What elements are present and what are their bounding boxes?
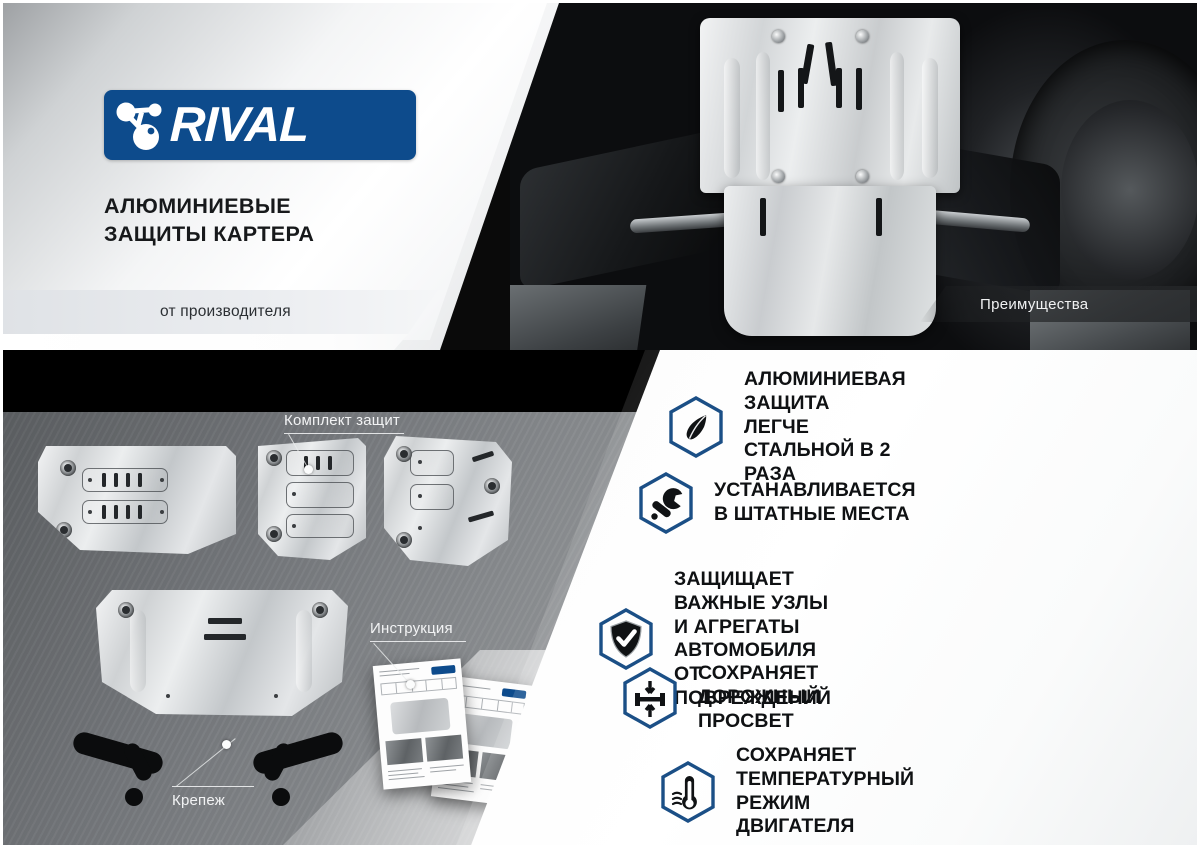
rival-logo: RIVAL xyxy=(104,90,416,160)
hero-subtitle-band: от производителя xyxy=(0,290,470,334)
header-section: Преимущества RIVAL АЛЮМИНИЕВЫЕ xyxy=(0,0,1200,350)
advantages-tab[interactable]: Преимущества xyxy=(920,286,1200,322)
ground-clearance-icon xyxy=(622,667,678,729)
skid-plate-lower xyxy=(724,186,936,336)
page-title-line1: АЛЮМИНИЕВЫЕ xyxy=(104,192,524,220)
poster-root: Преимущества RIVAL АЛЮМИНИЕВЫЕ xyxy=(0,0,1200,848)
feature-text-weight: АЛЮМИНИЕВАЯ ЗАЩИТАЛЕГЧЕ СТАЛЬНОЙ В 2 РАЗ… xyxy=(744,368,906,487)
feature-item-clearance[interactable]: СОХРАНЯЕТ ДОРОЖНЫЙ ПРОСВЕТ xyxy=(622,662,820,733)
page-title: АЛЮМИНИЕВЫЕ ЗАЩИТЫ КАРТЕРА xyxy=(104,192,524,249)
wrench-icon xyxy=(638,472,694,534)
hero-subtitle: от производителя xyxy=(160,303,291,321)
leaf-icon xyxy=(668,396,724,458)
feature-text-clearance: СОХРАНЯЕТ ДОРОЖНЫЙ ПРОСВЕТ xyxy=(698,662,820,733)
features-list: АЛЮМИНИЕВАЯ ЗАЩИТАЛЕГЧЕ СТАЛЬНОЙ В 2 РАЗ… xyxy=(0,350,730,848)
rival-wordmark: RIVAL xyxy=(169,101,309,150)
molecule-icon xyxy=(104,90,174,160)
subframe-left xyxy=(510,285,646,350)
feature-text-fitment: УСТАНАВЛИВАЕТСЯВ ШТАТНЫЕ МЕСТА xyxy=(714,479,916,527)
feature-item-fitment[interactable]: УСТАНАВЛИВАЕТСЯВ ШТАТНЫЕ МЕСТА xyxy=(638,472,916,534)
feature-item-temperature[interactable]: СОХРАНЯЕТ ТЕМПЕРАТУРНЫЙРЕЖИМ ДВИГАТЕЛЯ xyxy=(660,744,914,839)
advantages-tab-label: Преимущества xyxy=(980,296,1088,313)
skid-plate-photo-object xyxy=(700,18,960,328)
undercarriage-photo: Преимущества xyxy=(510,0,1200,350)
suspension-arm-left xyxy=(520,129,720,292)
feature-item-weight[interactable]: АЛЮМИНИЕВАЯ ЗАЩИТАЛЕГЧЕ СТАЛЬНОЙ В 2 РАЗ… xyxy=(668,368,906,487)
feature-text-temperature: СОХРАНЯЕТ ТЕМПЕРАТУРНЫЙРЕЖИМ ДВИГАТЕЛЯ xyxy=(736,744,914,839)
content-section: Комплект защит Инструкция Крепеж xyxy=(0,350,1200,848)
page-title-line2: ЗАЩИТЫ КАРТЕРА xyxy=(104,220,524,248)
thermometer-icon xyxy=(660,761,716,823)
